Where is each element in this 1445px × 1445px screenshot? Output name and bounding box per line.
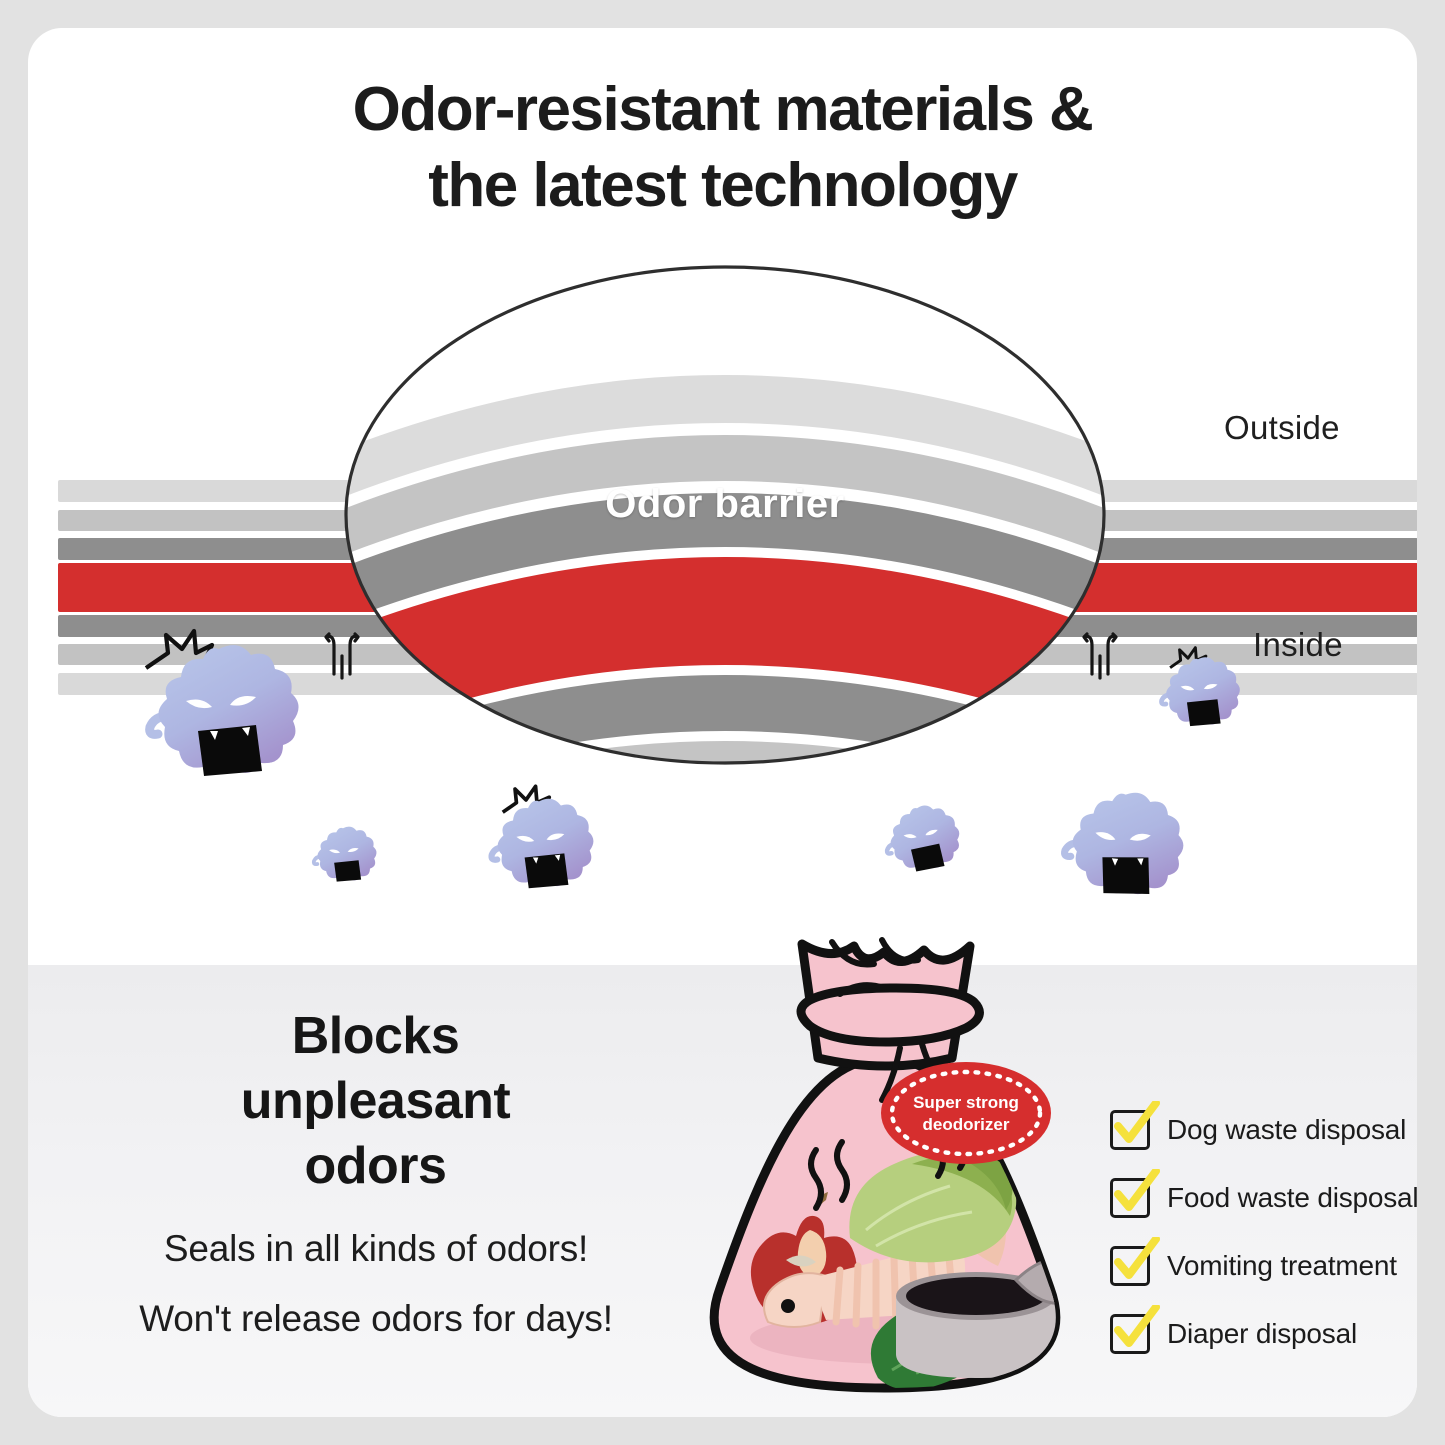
checklist-item[interactable]: Vomiting treatment [1110, 1232, 1417, 1300]
benefit-subtext-2: Won't release odors for days! [96, 1298, 656, 1340]
benefit-heading: Blocks unpleasant odors [123, 1004, 628, 1199]
use-case-checklist: Dog waste disposal Food waste disposal V… [1110, 1096, 1417, 1368]
checklist-item-label: Vomiting treatment [1167, 1250, 1397, 1282]
germ-character [474, 776, 604, 904]
germ-character [1039, 759, 1203, 920]
germ-character [1148, 640, 1248, 738]
benefit-heading-line-2: unpleasant [123, 1069, 628, 1134]
germ-character [124, 613, 314, 798]
checklist-item-label: Dog waste disposal [1167, 1114, 1406, 1146]
checkbox-checked-icon[interactable] [1110, 1246, 1150, 1286]
germ-character [303, 813, 383, 891]
checklist-item[interactable]: Dog waste disposal [1110, 1096, 1417, 1164]
checkbox-checked-icon[interactable] [1110, 1178, 1150, 1218]
germ-character [868, 785, 971, 886]
title-line-1: Odor-resistant materials & [353, 75, 1093, 144]
label-outside: Outside [1224, 409, 1340, 447]
content-card: Odor-resistant materials & the latest te… [28, 28, 1417, 1417]
checklist-item[interactable]: Diaper disposal [1110, 1300, 1417, 1368]
title-line-2: the latest technology [28, 148, 1417, 224]
benefit-subtext-1: Seals in all kinds of odors! [96, 1228, 656, 1270]
label-inside: Inside [1253, 626, 1343, 664]
checklist-item-label: Diaper disposal [1167, 1318, 1357, 1350]
checkbox-checked-icon[interactable] [1110, 1110, 1150, 1150]
benefit-heading-line-1: Blocks [123, 1004, 628, 1069]
benefit-heading-line-3: odors [123, 1134, 628, 1199]
magnifier-ellipse: Odor barrier [344, 265, 1106, 765]
checklist-item[interactable]: Food waste disposal [1110, 1164, 1417, 1232]
checklist-item-label: Food waste disposal [1167, 1182, 1417, 1214]
infographic-root: Odor-resistant materials & the latest te… [0, 0, 1445, 1445]
deodorizer-badge: Super strong deodorizer [880, 1061, 1052, 1166]
page-title: Odor-resistant materials & the latest te… [28, 72, 1417, 223]
checkbox-checked-icon[interactable] [1110, 1314, 1150, 1354]
